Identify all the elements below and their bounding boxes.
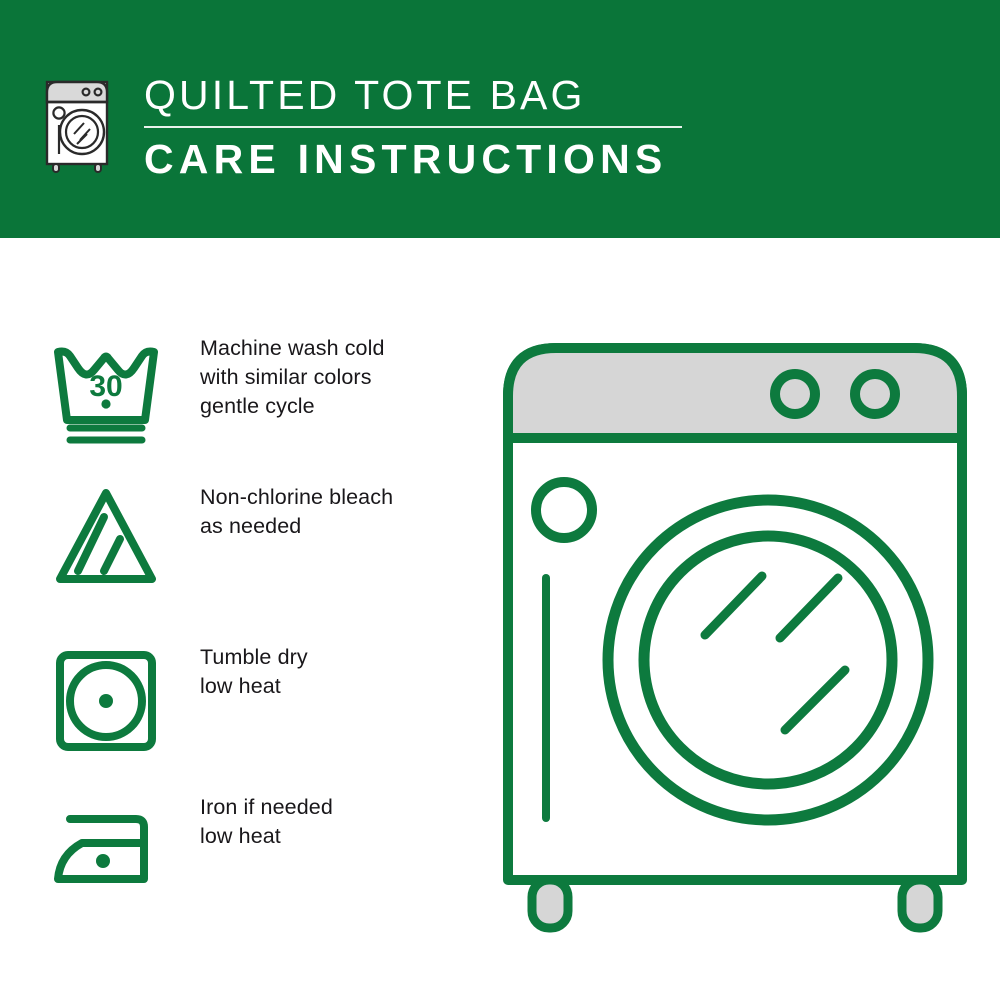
washing-machine-illustration bbox=[490, 320, 980, 940]
page-title: QUILTED TOTE BAG bbox=[144, 70, 844, 120]
tumble-dry-low-heat-icon bbox=[48, 643, 164, 759]
title-divider bbox=[144, 126, 682, 128]
care-label-bleach-line-2: as needed bbox=[200, 512, 480, 541]
wash-temperature-label: 30 bbox=[89, 370, 122, 403]
care-row-wash: 30 Machine wash cold with similar colors… bbox=[0, 334, 480, 474]
care-label-tumble-dry-line-1: Tumble dry bbox=[200, 643, 480, 672]
care-label-iron: Iron if needed low heat bbox=[200, 793, 480, 851]
care-label-iron-line-2: low heat bbox=[200, 822, 480, 851]
iron-low-heat-icon bbox=[48, 793, 164, 909]
care-label-iron-line-1: Iron if needed bbox=[200, 793, 480, 822]
leg-left bbox=[532, 880, 568, 928]
care-instruction-list: 30 Machine wash cold with similar colors… bbox=[0, 238, 480, 1000]
header-title-group: QUILTED TOTE BAG CARE INSTRUCTIONS bbox=[144, 70, 844, 183]
page-subtitle: CARE INSTRUCTIONS bbox=[144, 135, 844, 183]
care-row-bleach: Non-chlorine bleach as needed bbox=[0, 483, 480, 623]
care-row-tumble-dry: Tumble dry low heat bbox=[0, 643, 480, 783]
header-banner: QUILTED TOTE BAG CARE INSTRUCTIONS bbox=[0, 0, 1000, 238]
care-label-bleach-line-1: Non-chlorine bleach bbox=[200, 483, 480, 512]
wash-tub-30-gentle-icon: 30 bbox=[48, 334, 164, 450]
non-chlorine-bleach-triangle-icon bbox=[48, 483, 164, 599]
care-label-wash-line-3: gentle cycle bbox=[200, 392, 480, 421]
care-label-tumble-dry: Tumble dry low heat bbox=[200, 643, 480, 701]
care-label-bleach: Non-chlorine bleach as needed bbox=[200, 483, 480, 541]
care-label-wash: Machine wash cold with similar colors ge… bbox=[200, 334, 480, 421]
care-row-iron: Iron if needed low heat bbox=[0, 793, 480, 933]
care-label-wash-line-2: with similar colors bbox=[200, 363, 480, 392]
care-label-wash-line-1: Machine wash cold bbox=[200, 334, 480, 363]
leg-right bbox=[902, 880, 938, 928]
washing-machine-icon bbox=[44, 68, 116, 176]
care-label-tumble-dry-line-2: low heat bbox=[200, 672, 480, 701]
care-instructions-page: QUILTED TOTE BAG CARE INSTRUCTIONS 30 Ma… bbox=[0, 0, 1000, 1000]
